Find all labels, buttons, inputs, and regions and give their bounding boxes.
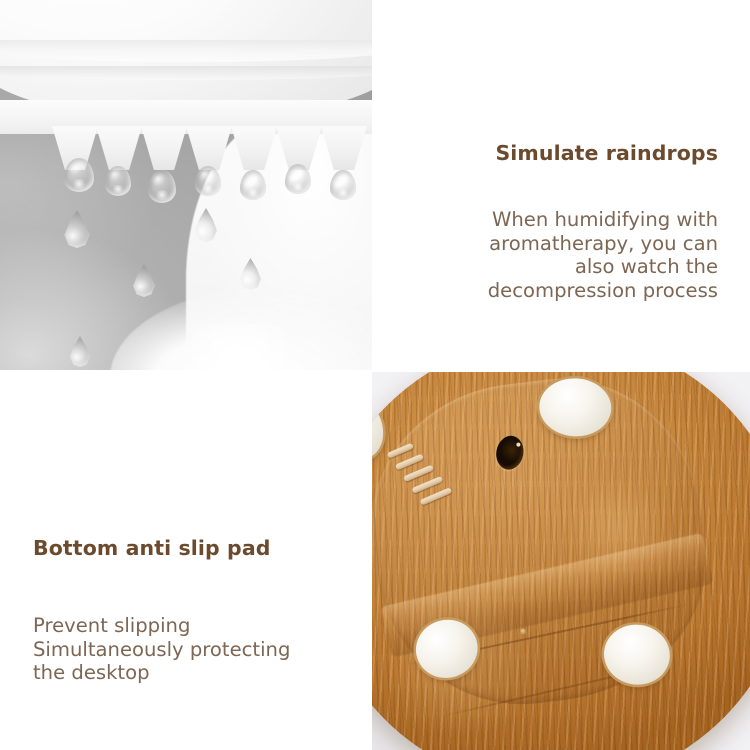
dome-rim-band-lower xyxy=(0,66,372,80)
body-line: Simultaneously protecting xyxy=(33,638,343,662)
hanging-droplet xyxy=(240,170,266,200)
body-line: also watch the xyxy=(418,255,718,279)
vent-slit xyxy=(403,465,434,482)
dome-rim-band xyxy=(0,40,372,62)
body-line: Prevent slipping xyxy=(33,614,343,638)
raindrop-scene xyxy=(0,0,372,370)
raindrop-photo xyxy=(0,0,372,370)
anti-slip-body-text: Prevent slipping Simultaneously protecti… xyxy=(33,614,343,685)
wood-scene xyxy=(372,372,750,750)
raindrop-body-text: When humidifying with aromatherapy, you … xyxy=(418,208,718,302)
wood-base-photo xyxy=(372,372,750,750)
anti-slip-text-panel: Bottom anti slip pad Prevent slipping Si… xyxy=(0,370,372,750)
body-line: aromatherapy, you can xyxy=(418,232,718,256)
raindrop-heading: Simulate raindrops xyxy=(495,141,718,165)
vent-slit xyxy=(395,454,424,470)
body-line: the desktop xyxy=(33,661,343,685)
hanging-droplet xyxy=(330,170,356,200)
water-splash-highlight xyxy=(170,324,320,370)
hanging-droplet xyxy=(64,158,94,192)
hanging-droplet xyxy=(148,170,176,203)
product-feature-page: Simulate raindrops When humidifying with… xyxy=(0,0,750,750)
hanging-droplet xyxy=(195,166,221,196)
raindrop-text-panel: Simulate raindrops When humidifying with… xyxy=(372,0,750,370)
vent-slit xyxy=(420,487,453,505)
body-line: decompression process xyxy=(418,279,718,303)
humidifier-wood-base xyxy=(372,372,750,750)
hanging-droplet xyxy=(105,166,131,196)
hanging-droplet xyxy=(285,164,311,194)
anti-slip-heading: Bottom anti slip pad xyxy=(33,536,271,560)
body-line: When humidifying with xyxy=(418,208,718,232)
